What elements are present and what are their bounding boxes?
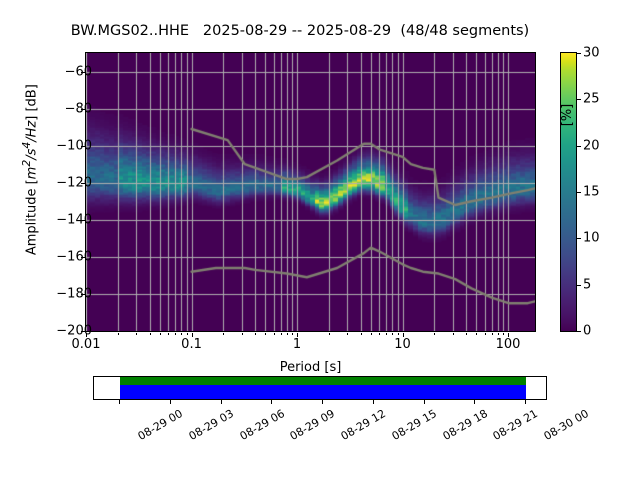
x-minor-tick-mark [361, 333, 362, 335]
x-minor-tick-mark [118, 333, 119, 335]
x-minor-tick-mark [453, 333, 454, 335]
x-minor-tick-mark [386, 333, 387, 335]
x-minor-tick-mark [242, 333, 243, 335]
colorbar-tick-label: 25 [583, 92, 600, 107]
timeline-tick-label: 08-29 06 [237, 407, 286, 443]
x-minor-tick-mark [392, 333, 393, 335]
x-tick-mark [86, 333, 87, 337]
y-tick-mark [81, 72, 85, 73]
page-title: BW.MGS02..HHE 2025-08-29 -- 2025-08-29 (… [0, 23, 600, 39]
y-tick-mark [81, 146, 85, 147]
colorbar-tick-label: 15 [583, 185, 600, 200]
y-tick-mark [81, 220, 85, 221]
timeline-tick-label: 08-29 09 [288, 407, 337, 443]
ppsd-heatmap-canvas [86, 53, 535, 331]
ppsd-figure: BW.MGS02..HHE 2025-08-29 -- 2025-08-29 (… [0, 0, 640, 480]
timeline-tick-mark [525, 400, 526, 404]
x-tick-label: 100 [478, 337, 538, 352]
x-minor-tick-mark [168, 333, 169, 335]
colorbar-tick-mark [577, 238, 581, 239]
y-tick-mark [81, 257, 85, 258]
y-tick-mark [81, 294, 85, 295]
x-minor-tick-mark [175, 333, 176, 335]
x-minor-tick-mark [476, 333, 477, 335]
y-tick-mark [81, 331, 85, 332]
timeline-tick-mark [170, 400, 171, 404]
colorbar-tick-label: 20 [583, 138, 600, 153]
x-minor-tick-mark [398, 333, 399, 335]
timeline-tick-label: 08-29 03 [186, 407, 235, 443]
x-minor-tick-mark [287, 333, 288, 335]
colorbar-tick-mark [577, 146, 581, 147]
timeline-tick-label: 08-29 18 [440, 407, 489, 443]
x-minor-tick-mark [503, 333, 504, 335]
timeline-tick-mark [424, 400, 425, 404]
x-minor-tick-mark [485, 333, 486, 335]
colorbar-label: [%] [560, 55, 575, 175]
x-minor-tick-mark [255, 333, 256, 335]
ppsd-plot-area [85, 52, 536, 332]
x-minor-tick-mark [187, 333, 188, 335]
colorbar-tick-mark [577, 331, 581, 332]
colorbar-tick-mark [577, 192, 581, 193]
timeline-tick-label: 08-29 00 [136, 407, 185, 443]
x-tick-mark [192, 333, 193, 337]
timeline-tick-mark [119, 400, 120, 404]
x-minor-tick-mark [181, 333, 182, 335]
x-tick-label: 0.1 [162, 337, 222, 352]
x-tick-mark [403, 333, 404, 337]
colorbar-tick-label: 10 [583, 231, 600, 246]
x-minor-tick-mark [274, 333, 275, 335]
x-minor-tick-mark [160, 333, 161, 335]
x-minor-tick-mark [329, 333, 330, 335]
colorbar-tick-mark [577, 99, 581, 100]
colorbar-tick-mark [577, 53, 581, 54]
timeline-tick-label: 08-29 15 [389, 407, 438, 443]
x-minor-tick-mark [379, 333, 380, 335]
colorbar-tick-label: 0 [583, 324, 591, 339]
colorbar-tick-label: 30 [583, 46, 600, 61]
x-minor-tick-mark [498, 333, 499, 335]
x-tick-mark [297, 333, 298, 337]
colorbar-tick-label: 5 [583, 277, 591, 292]
x-tick-mark [508, 333, 509, 337]
x-minor-tick-mark [371, 333, 372, 335]
x-minor-tick-mark [265, 333, 266, 335]
timeline-tick-label: 08-29 12 [339, 407, 388, 443]
x-minor-tick-mark [136, 333, 137, 335]
timeline-coverage-axes [93, 376, 547, 400]
colorbar-tick-mark [577, 285, 581, 286]
x-minor-tick-mark [150, 333, 151, 335]
timeline-tick-mark [221, 400, 222, 404]
timeline-coverage-blue [120, 385, 526, 399]
x-tick-label: 1 [267, 337, 327, 352]
timeline-tick-label: 08-29 21 [491, 407, 540, 443]
timeline-tick-mark [322, 400, 323, 404]
timeline-tick-mark [474, 400, 475, 404]
x-minor-tick-mark [292, 333, 293, 335]
x-minor-tick-mark [281, 333, 282, 335]
x-tick-label: 0.01 [56, 337, 116, 352]
x-tick-label: 10 [373, 337, 433, 352]
x-minor-tick-mark [492, 333, 493, 335]
x-minor-tick-mark [223, 333, 224, 335]
y-tick-mark [81, 109, 85, 110]
timeline-tick-mark [271, 400, 272, 404]
x-minor-tick-mark [347, 333, 348, 335]
y-tick-mark [81, 183, 85, 184]
x-minor-tick-mark [434, 333, 435, 335]
timeline-tick-label: 08-30 00 [542, 407, 591, 443]
x-minor-tick-mark [466, 333, 467, 335]
x-axis-label: Period [s] [85, 360, 536, 375]
timeline-coverage-green [120, 377, 526, 385]
timeline-tick-mark [373, 400, 374, 404]
